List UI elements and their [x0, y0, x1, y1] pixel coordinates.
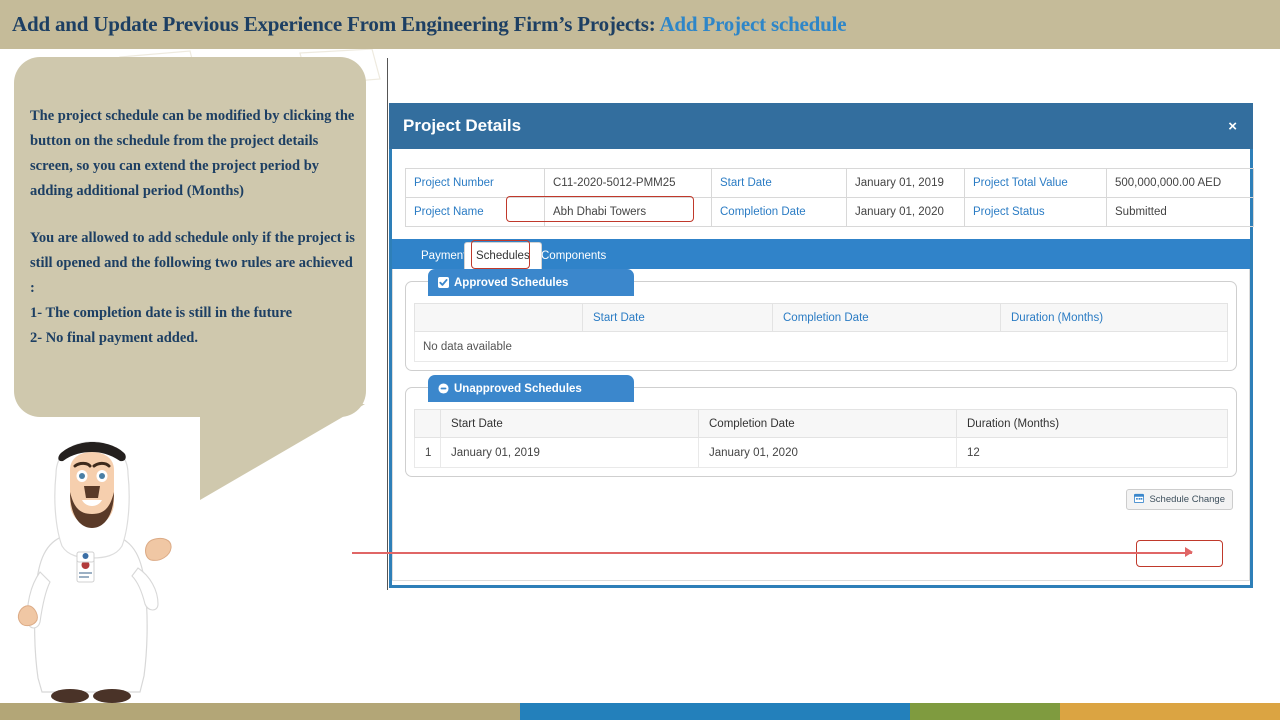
vertical-guide-line — [387, 58, 388, 590]
approved-col-0 — [415, 304, 583, 332]
bottom-bar-segment-orange — [1060, 703, 1280, 720]
table-row: 1 January 01, 2019 January 01, 2020 12 — [415, 438, 1228, 468]
unapproved-schedules-legend-label: Unapproved Schedules — [454, 383, 582, 395]
value-completion-date: January 01, 2020 — [847, 198, 965, 227]
slide-canvas: Add and Update Previous Experience From … — [0, 0, 1280, 720]
circle-minus-icon — [438, 383, 449, 394]
project-details-header: Project Details × — [389, 103, 1253, 149]
checkbox-checked-icon — [438, 277, 449, 288]
approved-col-completion-date: Completion Date — [773, 304, 1001, 332]
speech-bubble-tail — [200, 404, 365, 500]
unapproved-schedules-section: Unapproved Schedules Start Date Completi… — [405, 387, 1237, 477]
presenter-character-illustration — [12, 440, 172, 708]
callout-paragraph-2: You are allowed to add schedule only if … — [30, 226, 355, 301]
unapproved-schedules-legend[interactable]: Unapproved Schedules — [428, 375, 634, 402]
bottom-color-bar — [0, 703, 1280, 720]
callout-paragraph-1: The project schedule can be modified by … — [30, 104, 355, 204]
callout-paragraph-3: 1- The completion date is still in the f… — [30, 301, 355, 326]
schedules-tab-panel: Approved Schedules Start Date Completion… — [392, 269, 1250, 581]
slide-title-bar: Add and Update Previous Experience From … — [0, 0, 1280, 49]
table-header-row: Start Date Completion Date Duration (Mon… — [415, 410, 1228, 438]
dialog-tabs: Payments Schedules Components — [392, 239, 1250, 269]
table-row: Project Number C11-2020-5012-PMM25 Start… — [406, 169, 1254, 198]
table-row-empty: No data available — [415, 332, 1228, 362]
pointer-arrow-line — [352, 552, 1192, 554]
table-header-row: Start Date Completion Date Duration (Mon… — [415, 304, 1228, 332]
label-project-number: Project Number — [406, 169, 545, 198]
value-project-total-value: 500,000,000.00 AED — [1107, 169, 1254, 198]
approved-no-data-text: No data available — [415, 332, 1228, 362]
unapproved-col-completion-date: Completion Date — [699, 410, 957, 438]
page-title: Add and Update Previous Experience From … — [0, 12, 846, 37]
approved-schedules-legend-label: Approved Schedules — [454, 277, 568, 289]
label-project-status: Project Status — [965, 198, 1107, 227]
schedule-change-row: Schedule Change — [405, 493, 1237, 497]
page-title-accent: Add Project schedule — [659, 12, 846, 36]
unapproved-col-start-date: Start Date — [441, 410, 699, 438]
value-project-name: Abh Dhabi Towers — [545, 198, 712, 227]
schedule-change-button[interactable]: Schedule Change — [1126, 489, 1233, 510]
unapproved-col-0 — [415, 410, 441, 438]
schedule-change-button-label: Schedule Change — [1149, 494, 1225, 505]
approved-schedules-table: Start Date Completion Date Duration (Mon… — [414, 303, 1228, 362]
unapproved-col-duration: Duration (Months) — [957, 410, 1228, 438]
speech-bubble-text: The project schedule can be modified by … — [30, 104, 355, 351]
label-project-name: Project Name — [406, 198, 545, 227]
approved-schedules-section: Approved Schedules Start Date Completion… — [405, 281, 1237, 371]
unapproved-row-start-date: January 01, 2019 — [441, 438, 699, 468]
table-row: Project Name Abh Dhabi Towers Completion… — [406, 198, 1254, 227]
callout-paragraph-4: 2- No final payment added. — [30, 326, 355, 351]
unapproved-row-index: 1 — [415, 438, 441, 468]
label-start-date: Start Date — [712, 169, 847, 198]
label-completion-date: Completion Date — [712, 198, 847, 227]
value-project-number: C11-2020-5012-PMM25 — [545, 169, 712, 198]
unapproved-row-completion-date: January 01, 2020 — [699, 438, 957, 468]
dialog-title: Project Details — [403, 116, 521, 136]
label-project-total-value: Project Total Value — [965, 169, 1107, 198]
bottom-bar-segment-tan — [0, 703, 520, 720]
approved-col-start-date: Start Date — [583, 304, 773, 332]
approved-schedules-legend[interactable]: Approved Schedules — [428, 269, 634, 296]
close-icon[interactable]: × — [1228, 118, 1237, 135]
page-title-main: Add and Update Previous Experience From … — [12, 12, 659, 36]
unapproved-schedules-table: Start Date Completion Date Duration (Mon… — [414, 409, 1228, 468]
value-project-status: Submitted — [1107, 198, 1254, 227]
approved-col-duration: Duration (Months) — [1001, 304, 1228, 332]
tab-components[interactable]: Components — [530, 243, 617, 269]
unapproved-row-duration: 12 — [957, 438, 1228, 468]
bottom-bar-segment-green — [910, 703, 1060, 720]
pointer-arrow-head-icon — [1185, 547, 1193, 557]
bottom-bar-segment-blue — [520, 703, 910, 720]
calendar-icon — [1134, 493, 1144, 506]
value-start-date: January 01, 2019 — [847, 169, 965, 198]
project-info-table: Project Number C11-2020-5012-PMM25 Start… — [405, 168, 1254, 227]
